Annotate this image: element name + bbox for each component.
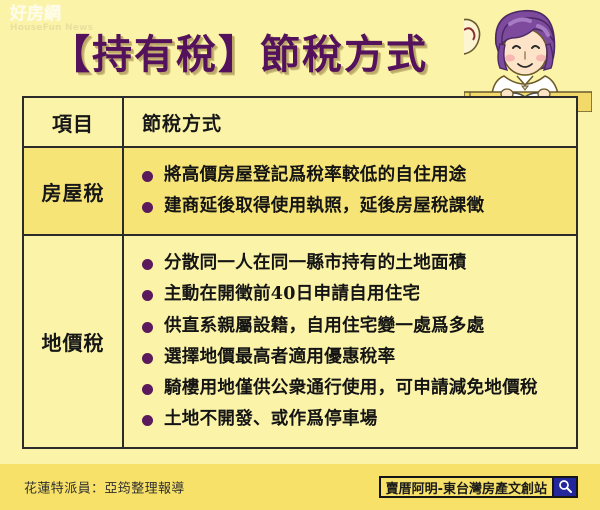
search-box[interactable]: 賣厝阿明-東台灣房產文創站 <box>379 476 578 498</box>
row-body-land-value-tax: 分散同一人在同一縣市持有的土地面積 主動在開徵前40日申請自用住宅 供直系親屬設… <box>124 236 576 447</box>
table-header-item-label: 項目 <box>24 98 124 146</box>
list-item: 供直系親屬設籍，自用住宅變一處爲多處 <box>142 313 568 340</box>
list-item: 將高價房屋登記爲稅率較低的自住用途 <box>142 162 568 189</box>
bullet-list: 分散同一人在同一縣市持有的土地面積 主動在開徵前40日申請自用住宅 供直系親屬設… <box>142 246 568 437</box>
table-row: 地價稅 分散同一人在同一縣市持有的土地面積 主動在開徵前40日申請自用住宅 供直… <box>24 236 576 447</box>
tax-saving-table: 項目 節稅方式 房屋稅 將高價房屋登記爲稅率較低的自住用途 建商延後取得使用執照… <box>22 96 578 449</box>
list-item: 騎樓用地僅供公衆通行使用，可申請減免地價稅 <box>142 375 568 402</box>
bullet-list: 將高價房屋登記爲稅率較低的自住用途 建商延後取得使用執照，延後房屋稅課徵 <box>142 158 568 224</box>
list-item: 分散同一人在同一縣市持有的土地面積 <box>142 250 568 277</box>
table-header-method-label: 節稅方式 <box>124 98 576 146</box>
list-item: 主動在開徵前40日申請自用住宅 <box>142 281 568 308</box>
poster-canvas: 好房網 HouseFun News <box>0 0 600 510</box>
row-label-house-tax: 房屋稅 <box>24 148 124 234</box>
footer-credit-text: 花蓮特派員：亞筠整理報導 <box>24 478 185 497</box>
list-item: 土地不開發、或作爲停車場 <box>142 406 568 433</box>
list-item: 選擇地價最高者適用優惠稅率 <box>142 344 568 371</box>
search-button[interactable] <box>552 478 576 496</box>
table-header-row: 項目 節稅方式 <box>24 98 576 148</box>
search-input[interactable]: 賣厝阿明-東台灣房產文創站 <box>381 478 552 496</box>
page-title: 【持有稅】節稅方式 <box>0 22 478 80</box>
row-body-house-tax: 將高價房屋登記爲稅率較低的自住用途 建商延後取得使用執照，延後房屋稅課徵 <box>124 148 576 234</box>
watermark-cn-text: 好房網 <box>10 6 93 23</box>
list-item: 建商延後取得使用執照，延後房屋稅課徵 <box>142 193 568 220</box>
row-label-land-value-tax: 地價稅 <box>24 236 124 447</box>
table-row: 房屋稅 將高價房屋登記爲稅率較低的自住用途 建商延後取得使用執照，延後房屋稅課徵 <box>24 148 576 236</box>
footer-bar: 花蓮特派員：亞筠整理報導 賣厝阿明-東台灣房產文創站 <box>0 464 600 510</box>
search-icon <box>558 478 572 497</box>
